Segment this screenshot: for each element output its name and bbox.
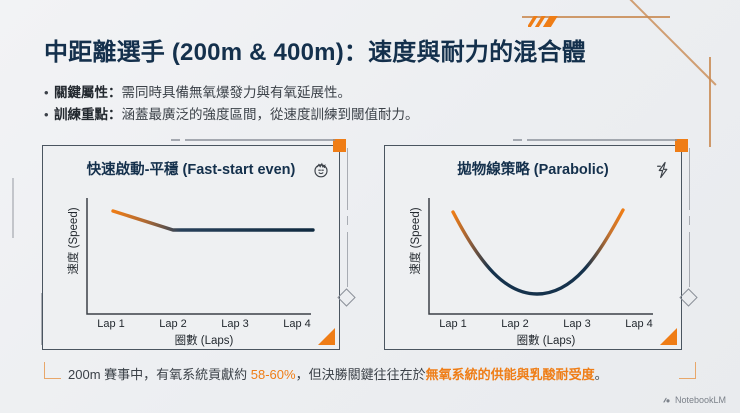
decor-card-top-rule: [527, 139, 677, 141]
decor-diagonal-line: [609, 0, 716, 85]
bullet-body: 涵蓋最廣泛的強度區間，從速度訓練到閾值耐力。: [122, 105, 419, 125]
caption-text: 200m 賽事中，有氧系統貢獻約 58-60%，但決勝關鍵往往在於無氧系統的供能…: [68, 364, 608, 383]
bullet-body: 需同時具備無氧爆發力與有氧延展性。: [122, 83, 352, 103]
chart-x-axis-ticks: Lap 1 Lap 2 Lap 3 Lap 4: [423, 318, 669, 330]
decor-card-right-rule-3: [347, 232, 349, 287]
bullet-marker: •: [44, 83, 54, 103]
caption-bracket-left: [44, 362, 61, 379]
decor-right-vertical-line: [709, 57, 711, 147]
chart-y-axis-label: 速度 (Speed): [65, 186, 81, 296]
list-item: • 訓練重點： 涵蓋最廣泛的強度區間，從速度訓練到閾值耐力。: [44, 105, 419, 125]
decor-card-right-rule-2: [689, 216, 691, 225]
slide-canvas: 中距離選手 (200m & 400m)：速度與耐力的混合體 • 關鍵屬性： 需同…: [0, 0, 740, 413]
decor-card-top-dash: [513, 139, 522, 141]
caption-part-3: 。: [595, 367, 608, 382]
x-tick: Lap 4: [609, 318, 669, 330]
decor-left-rule-2: [12, 178, 14, 238]
x-tick: Lap 2: [143, 318, 203, 330]
decor-card-top-rule: [185, 139, 335, 141]
x-tick: Lap 1: [423, 318, 483, 330]
chart-x-axis-label: 圈數 (Laps): [423, 332, 669, 348]
x-tick: Lap 3: [205, 318, 265, 330]
bullet-lead: 關鍵屬性：: [54, 83, 122, 103]
watermark-label: NotebookLM: [675, 395, 726, 405]
notebooklm-logo-icon: [662, 396, 671, 405]
bullet-lead: 訓練重點：: [54, 105, 122, 125]
decor-card-right-rule: [689, 148, 691, 210]
chart-x-axis-ticks: Lap 1 Lap 2 Lap 3 Lap 4: [81, 318, 327, 330]
caption-highlight-percentage: 58-60%: [251, 367, 296, 382]
caption-part-2: ，但決勝關鍵往往在於: [296, 367, 426, 382]
bullet-list: • 關鍵屬性： 需同時具備無氧爆發力與有氧延展性。 • 訓練重點： 涵蓋最廣泛的…: [44, 83, 419, 127]
caption-bracket-right: [679, 362, 696, 379]
list-item: • 關鍵屬性： 需同時具備無氧爆發力與有氧延展性。: [44, 83, 419, 103]
bullet-marker: •: [44, 105, 54, 125]
decor-card-top-dash: [171, 139, 180, 141]
x-tick: Lap 1: [81, 318, 141, 330]
decor-card-right-rule-2: [347, 216, 349, 225]
decor-card-right-rule-3: [689, 232, 691, 287]
chart-card-parabolic: 拋物線策略 (Parabolic): [384, 145, 682, 350]
page-title: 中距離選手 (200m & 400m)：速度與耐力的混合體: [44, 32, 586, 67]
x-tick: Lap 4: [267, 318, 327, 330]
x-tick: Lap 2: [485, 318, 545, 330]
chart-y-axis-label: 速度 (Speed): [407, 186, 423, 296]
notebooklm-watermark: NotebookLM: [662, 395, 726, 405]
caption-part-1: 200m 賽事中，有氧系統貢獻約: [68, 367, 251, 382]
caption-highlight-key-phrase: 無氧系統的供能與乳酸耐受度: [426, 367, 595, 382]
chart-card-fast-start-even: 快速啟動-平穩 (Fast-start even): [42, 145, 340, 350]
decor-orange-hash-marks: [528, 16, 562, 27]
caption-block: 200m 賽事中，有氧系統貢獻約 58-60%，但決勝關鍵往往在於無氧系統的供能…: [42, 362, 698, 388]
x-tick: Lap 3: [547, 318, 607, 330]
decor-card-right-rule: [347, 148, 349, 210]
chart-x-axis-label: 圈數 (Laps): [81, 332, 327, 348]
